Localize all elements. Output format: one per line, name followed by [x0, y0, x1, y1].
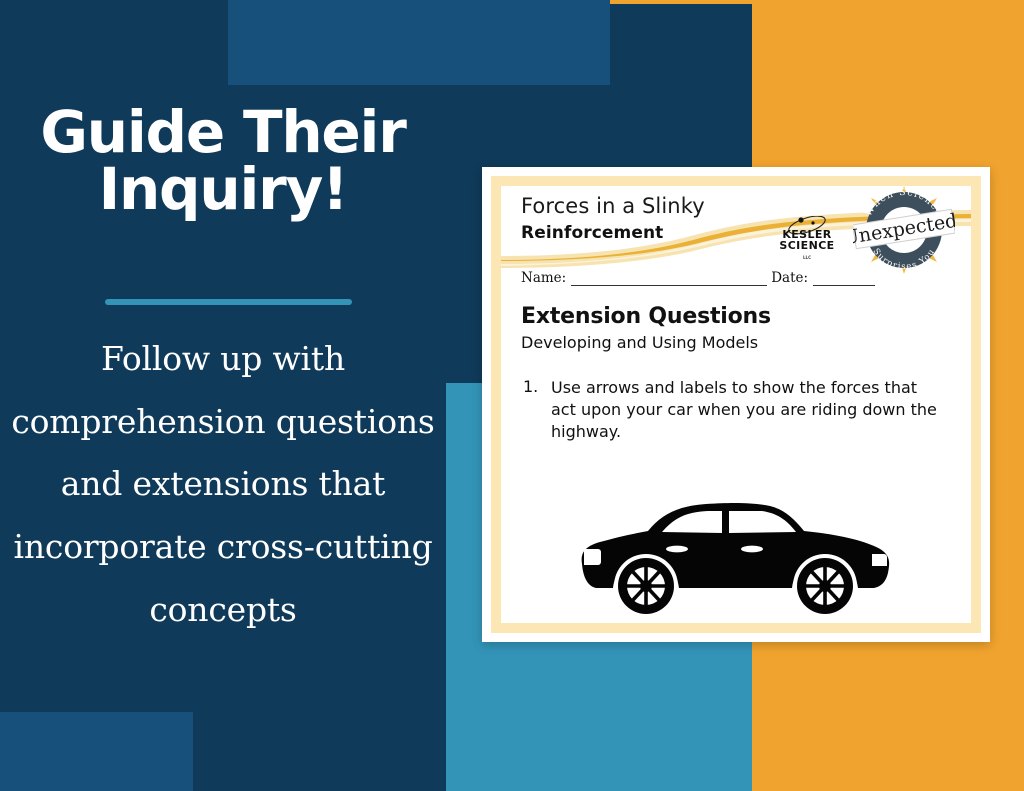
worksheet-title: Forces in a Slinky [521, 194, 705, 218]
logo-trademark: LLC [771, 252, 843, 263]
date-input-line[interactable] [813, 272, 875, 286]
car-silhouette-icon [566, 486, 906, 623]
headline-line-2: Inquiry! [0, 161, 446, 218]
worksheet-header: Forces in a Slinky Reinforcement KESLER … [501, 186, 971, 278]
worksheet-page: Forces in a Slinky Reinforcement KESLER … [501, 186, 971, 623]
worksheet-body: Extension Questions Developing and Using… [501, 304, 971, 443]
car-illustration [501, 486, 971, 623]
name-input-line[interactable] [571, 272, 767, 286]
extension-questions-heading: Extension Questions [521, 304, 971, 329]
worksheet-card: Forces in a Slinky Reinforcement KESLER … [482, 167, 990, 642]
worksheet-card-border: Forces in a Slinky Reinforcement KESLER … [491, 176, 981, 633]
worksheet-subtitle: Reinforcement [521, 223, 663, 243]
question-item: 1. Use arrows and labels to show the for… [523, 377, 971, 443]
question-number: 1. [523, 377, 551, 443]
page-title: Guide Their Inquiry! [0, 104, 446, 219]
kesler-science-logo: KESLER SCIENCE LLC [771, 216, 843, 258]
name-field-label: Name: [521, 270, 566, 286]
date-field-label: Date: [771, 270, 808, 286]
name-date-row: Name: Date: [521, 270, 941, 286]
unexpected-seal-badge: When Science Surprises You Unexpected! [853, 186, 955, 280]
left-content-column: Guide Their Inquiry! Follow up with comp… [0, 0, 446, 791]
question-text: Use arrows and labels to show the forces… [551, 377, 941, 443]
body-paragraph: Follow up with comprehension questions a… [8, 328, 438, 641]
title-divider [105, 299, 352, 305]
logo-line-2: SCIENCE [779, 239, 834, 252]
kesler-science-wordmark: KESLER SCIENCE LLC [771, 229, 843, 263]
seal-badge-icon: When Science Surprises You Unexpected! [853, 186, 955, 280]
slide-canvas: Guide Their Inquiry! Follow up with comp… [0, 0, 1024, 791]
extension-questions-subheading: Developing and Using Models [521, 333, 971, 352]
